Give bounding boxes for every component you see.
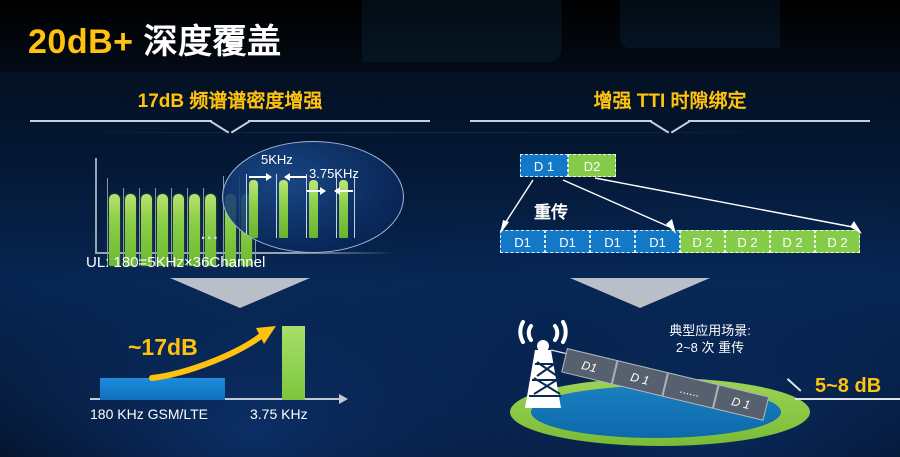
tti-bottom-block: D 2	[770, 230, 815, 253]
left-column-heading: 17dB 频谱谱密度增强	[30, 86, 430, 113]
magnified-tick	[354, 174, 355, 238]
magnified-tick	[306, 174, 307, 238]
right-flow-arrow	[570, 278, 710, 308]
left-flow-arrow	[170, 278, 310, 308]
scenario-line-2: 2~8 次 重传	[620, 339, 800, 356]
tti-bottom-block: D1	[590, 230, 635, 253]
scenario-note: 典型应用场景: 2~8 次 重传	[620, 322, 800, 356]
decorative-panel-center	[362, 0, 562, 62]
label-5khz: 5KHz	[261, 152, 293, 167]
chevron-down-icon	[652, 120, 688, 133]
coverage-scene: D1D 1......D 1 典型应用场景: 2~8 次 重传 5~8 dB	[495, 320, 895, 450]
tti-bottom-block: D 2	[815, 230, 860, 253]
right-divider-rule	[470, 120, 870, 134]
retransmit-label: 重传	[534, 198, 568, 223]
arrow-375khz-right	[335, 190, 353, 192]
magnified-peak	[249, 180, 258, 238]
scenario-line-1: 典型应用场景:	[620, 322, 800, 339]
tti-top-block: D2	[568, 154, 616, 177]
tti-bottom-block: D 2	[725, 230, 770, 253]
barchart-label-right: 3.75 KHz	[250, 406, 308, 422]
decorative-panel-right	[620, 0, 780, 48]
gain-bar-chart: ~17dB 180 KHz GSM/LTE 3.75 KHz	[90, 312, 390, 412]
label-375khz: 3.75KHz	[309, 166, 359, 181]
tti-bottom-block: D 2	[680, 230, 725, 253]
spectrum-y-axis	[95, 158, 97, 254]
bar-180khz	[100, 378, 225, 400]
magnified-peak	[309, 180, 318, 238]
right-column-heading: 增强 TTI 时隙绑定	[470, 86, 870, 113]
magnified-tick	[336, 174, 337, 238]
magnified-peak	[279, 180, 288, 238]
spectrum-caption: UL: 180=5KHz×36Channel	[86, 254, 265, 271]
tti-bottom-block: D1	[635, 230, 680, 253]
tti-top-block: D 1	[520, 154, 568, 177]
page-title: 20dB+深度覆盖	[28, 14, 282, 63]
bar-375khz	[282, 326, 305, 400]
spectrum-tick	[107, 178, 108, 266]
arrow-5khz-left	[249, 176, 271, 178]
magnified-tick	[276, 174, 277, 238]
page-title-main: 深度覆盖	[144, 23, 282, 61]
slide-canvas: 20dB+深度覆盖 17dB 频谱谱密度增强 增强 TTI 时隙绑定 ... U…	[0, 0, 900, 457]
gain-callout-line	[795, 398, 900, 400]
gain-label: ~17dB	[128, 334, 198, 361]
page-title-accent: 20dB+	[28, 23, 134, 61]
tti-bundling-diagram: D 1D2 重传 D1D1D1D1D 2D 2D 2D 2	[500, 150, 880, 270]
magnifier-ellipse: 5KHz 3.75KHz	[222, 141, 404, 253]
tti-bottom-block: D1	[545, 230, 590, 253]
tower-gain-label: 5~8 dB	[815, 375, 881, 398]
magnified-peak	[339, 180, 348, 238]
arrow-375khz-left	[307, 190, 325, 192]
magnified-tick	[246, 174, 247, 238]
spectrum-ellipsis: ...	[201, 226, 220, 243]
tti-bottom-block: D1	[500, 230, 545, 253]
left-divider-rule	[30, 120, 430, 134]
chevron-down-icon	[212, 120, 248, 133]
barchart-label-left: 180 KHz GSM/LTE	[90, 406, 208, 422]
arrow-5khz-right	[285, 176, 307, 178]
